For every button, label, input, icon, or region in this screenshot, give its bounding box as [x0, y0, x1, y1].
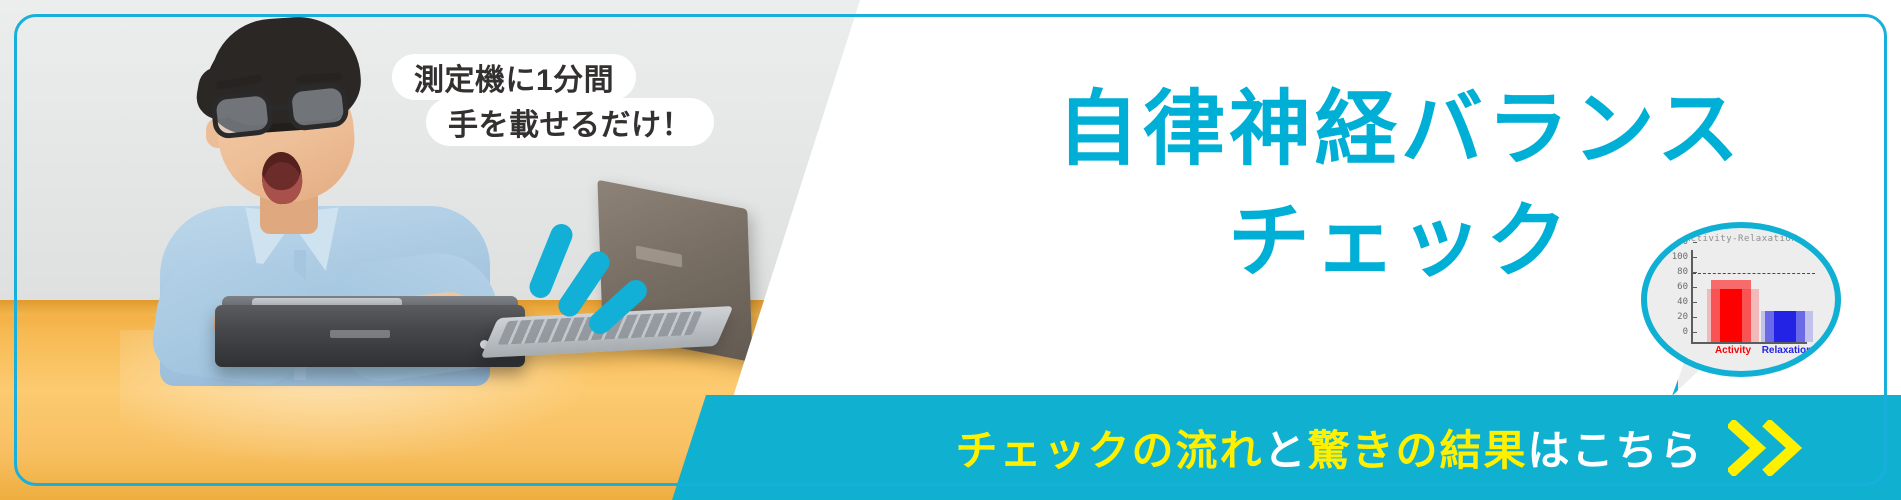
- chart-result-balloon[interactable]: Activity-Relaxation 020406080100120 Acti…: [1641, 222, 1841, 377]
- bubble-line-2: 手を載せるだけ！: [426, 98, 714, 146]
- chart-y-tick: 80: [1677, 267, 1693, 277]
- chart-bar-label: Activity: [1707, 345, 1759, 356]
- title-line-1: 自律神経バランス: [1057, 78, 1743, 182]
- chart-y-tick: 100: [1672, 252, 1693, 262]
- cta-text: チェックの流れと驚きの結果はこちら: [955, 417, 1703, 478]
- chart-y-tick: 20: [1677, 312, 1693, 322]
- cta-part-2: と: [1263, 427, 1307, 474]
- chart-y-tick: 60: [1677, 282, 1693, 292]
- title-row-1: 自律神経バランス: [860, 78, 1900, 184]
- double-chevron-right-icon[interactable]: [1728, 420, 1806, 476]
- chart-threshold-line: [1693, 273, 1815, 274]
- instruction-speech-bubble: 測定機に1分間 手を載せるだけ！: [392, 54, 692, 146]
- chart-bar-core: [1720, 289, 1742, 342]
- cta-part-3: 驚きの結果: [1308, 427, 1528, 474]
- glasses-lens-left: [210, 90, 274, 140]
- chart-bar-core: [1774, 311, 1796, 342]
- title-line-2: チェック: [1228, 190, 1572, 294]
- bubble-line-1: 測定機に1分間: [392, 54, 636, 100]
- chart-y-tick: 0: [1683, 327, 1693, 337]
- autonomic-balance-check-banner[interactable]: 測定機に1分間 手を載せるだけ！ 自律神経バランス チェック Activity-…: [0, 0, 1901, 500]
- cta-part-1: チェックの流れ: [955, 427, 1263, 474]
- bar-chart: Activity-Relaxation 020406080100120 Acti…: [1647, 228, 1835, 371]
- device-brand-label: [330, 330, 390, 338]
- cta-content[interactable]: チェックの流れと驚きの結果はこちら: [860, 395, 1901, 500]
- chart-y-tick: 120: [1672, 237, 1693, 247]
- cta-part-4: はこちら: [1528, 427, 1704, 474]
- chart-bar-label: Relaxation: [1761, 345, 1813, 356]
- glasses-lens-right: [286, 82, 350, 132]
- chart-plot-area: 020406080100120 ActivityRelaxation: [1691, 250, 1807, 344]
- chart-y-tick: 40: [1677, 297, 1693, 307]
